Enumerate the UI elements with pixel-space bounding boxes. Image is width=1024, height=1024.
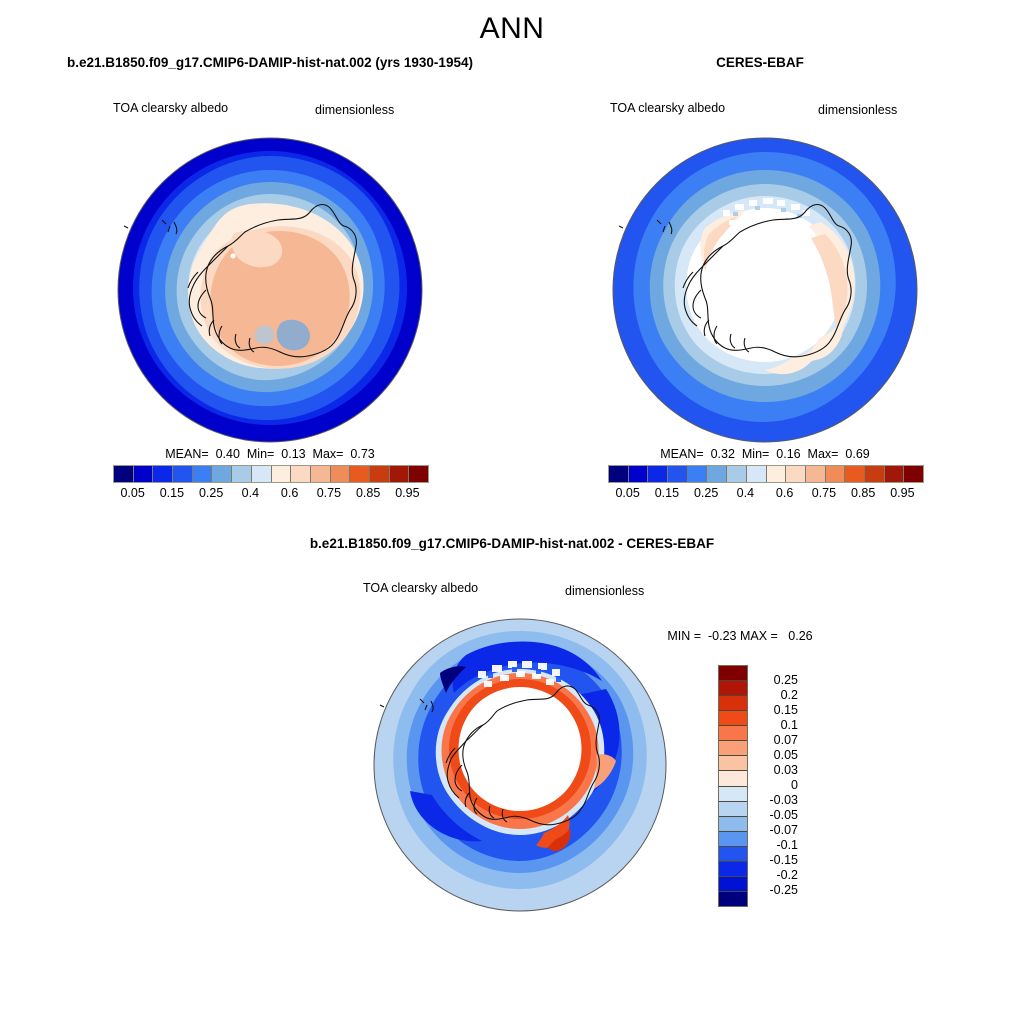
colorbar-segment: [153, 466, 173, 482]
colorbar-tick-label: -0.1: [750, 838, 798, 852]
colorbar-segment: [134, 466, 154, 482]
map-difference-svg: [370, 615, 670, 915]
colorbar-segment: [311, 466, 331, 482]
colorbar-segment: [212, 466, 232, 482]
colorbar-segment: [609, 466, 629, 482]
colorbar-model-ticklabels: 0.050.150.250.40.60.750.850.95: [113, 486, 427, 504]
colorbar-tick-label: -0.07: [750, 823, 798, 837]
colorbar-tick-label: 0.05: [615, 486, 639, 500]
panel-title-obs: CERES-EBAF: [560, 55, 960, 70]
figure-main-title: ANN: [0, 12, 1024, 46]
colorbar-segment: [719, 892, 747, 906]
colorbar-segment: [252, 466, 272, 482]
colorbar-segment: [232, 466, 252, 482]
colorbar-tick-label: 0.05: [750, 748, 798, 762]
panel-units-label-difference: dimensionless: [565, 584, 644, 598]
colorbar-tick-label: 0.4: [242, 486, 259, 500]
colorbar-difference[interactable]: [718, 665, 748, 907]
colorbar-segment: [719, 711, 747, 726]
map-model-svg: [110, 130, 430, 450]
map-difference-field: [374, 619, 666, 911]
panel-variable-label-obs: TOA clearsky albedo: [610, 101, 725, 115]
panel-stats-model: MEAN= 0.40 Min= 0.13 Max= 0.73: [110, 447, 430, 461]
colorbar-tick-label: -0.2: [750, 868, 798, 882]
colorbar-segment: [719, 741, 747, 756]
colorbar-segment: [806, 466, 826, 482]
colorbar-tick-label: 0.4: [737, 486, 754, 500]
colorbar-segment: [350, 466, 370, 482]
colorbar-segment: [719, 771, 747, 786]
colorbar-difference-ticklabels: 0.250.20.150.10.070.050.030-0.03-0.05-0.…: [750, 665, 808, 905]
map-model-field: [118, 138, 422, 442]
colorbar-segment: [865, 466, 885, 482]
colorbar-tick-label: 0.75: [317, 486, 341, 500]
map-difference: [370, 615, 670, 915]
colorbar-segment: [719, 862, 747, 877]
colorbar-tick-label: 0.95: [890, 486, 914, 500]
colorbar-segment: [688, 466, 708, 482]
colorbar-tick-label: -0.15: [750, 853, 798, 867]
colorbar-segment: [291, 466, 311, 482]
colorbar-obs[interactable]: [608, 465, 924, 483]
colorbar-tick-label: -0.05: [750, 808, 798, 822]
panel-units-label-model: dimensionless: [315, 103, 394, 117]
colorbar-obs-ticklabels: 0.050.150.250.40.60.750.850.95: [608, 486, 922, 504]
colorbar-tick-label: 0.1: [750, 718, 798, 732]
panel-title-model: b.e21.B1850.f09_g17.CMIP6-DAMIP-hist-nat…: [0, 55, 540, 70]
colorbar-segment: [826, 466, 846, 482]
colorbar-segment: [629, 466, 649, 482]
colorbar-segment: [719, 756, 747, 771]
colorbar-segment: [719, 726, 747, 741]
colorbar-tick-label: 0.85: [356, 486, 380, 500]
colorbar-segment: [719, 832, 747, 847]
colorbar-tick-label: 0.85: [851, 486, 875, 500]
panel-units-label-obs: dimensionless: [818, 103, 897, 117]
colorbar-segment: [173, 466, 193, 482]
colorbar-segment: [719, 666, 747, 681]
colorbar-segment: [409, 466, 428, 482]
colorbar-tick-label: 0.75: [812, 486, 836, 500]
colorbar-tick-label: -0.25: [750, 883, 798, 897]
colorbar-tick-label: 0.6: [281, 486, 298, 500]
colorbar-tick-label: 0.15: [750, 703, 798, 717]
colorbar-tick-label: 0.95: [395, 486, 419, 500]
colorbar-tick-label: 0.25: [750, 673, 798, 687]
colorbar-tick-label: 0: [750, 778, 798, 792]
colorbar-segment: [707, 466, 727, 482]
colorbar-segment: [767, 466, 787, 482]
colorbar-segment: [272, 466, 292, 482]
map-obs-svg: [605, 130, 925, 450]
colorbar-segment: [719, 787, 747, 802]
colorbar-tick-label: 0.07: [750, 733, 798, 747]
colorbar-segment: [719, 817, 747, 832]
colorbar-tick-label: -0.03: [750, 793, 798, 807]
colorbar-segment: [719, 802, 747, 817]
colorbar-segment: [747, 466, 767, 482]
colorbar-tick-label: 0.03: [750, 763, 798, 777]
colorbar-segment: [719, 847, 747, 862]
colorbar-model[interactable]: [113, 465, 429, 483]
colorbar-segment: [719, 696, 747, 711]
colorbar-tick-label: 0.25: [199, 486, 223, 500]
panel-variable-label-difference: TOA clearsky albedo: [363, 581, 478, 595]
map-model: [110, 130, 430, 450]
colorbar-segment: [331, 466, 351, 482]
colorbar-segment: [719, 877, 747, 892]
colorbar-segment: [885, 466, 905, 482]
panel-minmax-difference: MIN = -0.23 MAX = 0.26: [640, 629, 840, 643]
colorbar-tick-label: 0.6: [776, 486, 793, 500]
colorbar-segment: [668, 466, 688, 482]
colorbar-segment: [786, 466, 806, 482]
map-obs: [605, 130, 925, 450]
panel-variable-label-model: TOA clearsky albedo: [113, 101, 228, 115]
panel-stats-obs: MEAN= 0.32 Min= 0.16 Max= 0.69: [605, 447, 925, 461]
colorbar-segment: [370, 466, 390, 482]
colorbar-tick-label: 0.25: [694, 486, 718, 500]
colorbar-segment: [904, 466, 923, 482]
colorbar-tick-label: 0.05: [120, 486, 144, 500]
colorbar-segment: [719, 681, 747, 696]
colorbar-segment: [390, 466, 410, 482]
colorbar-segment: [648, 466, 668, 482]
colorbar-tick-label: 0.15: [655, 486, 679, 500]
colorbar-segment: [193, 466, 213, 482]
colorbar-tick-label: 0.2: [750, 688, 798, 702]
colorbar-tick-label: 0.15: [160, 486, 184, 500]
colorbar-segment: [845, 466, 865, 482]
colorbar-segment: [727, 466, 747, 482]
colorbar-segment: [114, 466, 134, 482]
panel-title-difference: b.e21.B1850.f09_g17.CMIP6-DAMIP-hist-nat…: [0, 536, 1024, 551]
map-obs-field: [613, 138, 917, 442]
